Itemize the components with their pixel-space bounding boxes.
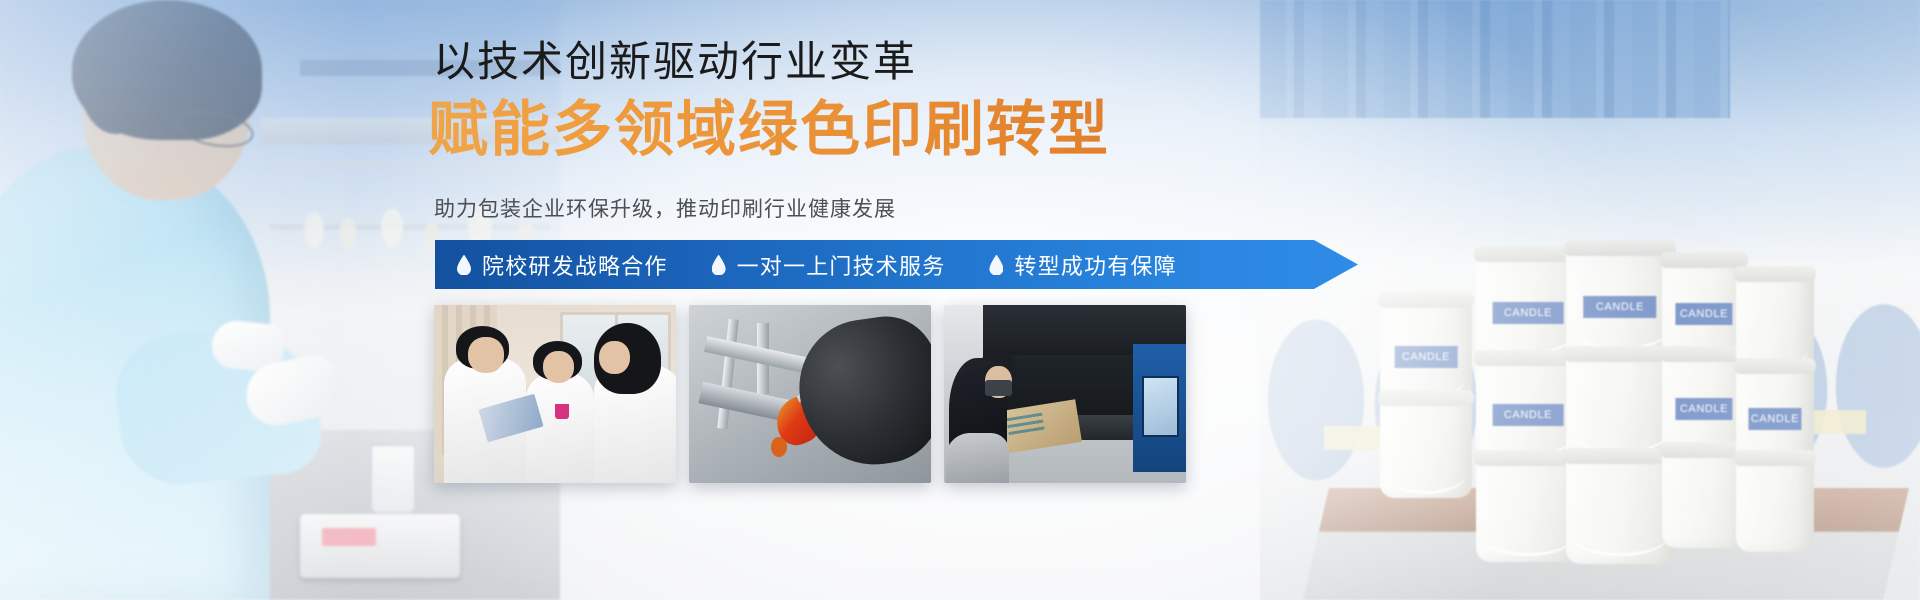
digital-printer-photo[interactable] [944, 305, 1186, 483]
photo-strip [434, 305, 1186, 483]
water-drop-icon [457, 255, 471, 275]
photo2-ink-drop [771, 437, 787, 457]
hero-subtitle: 助力包装企业环保升级，推动印刷行业健康发展 [434, 193, 896, 223]
ink-application-photo[interactable] [689, 305, 931, 483]
photo3-person-a-shirt [946, 433, 1009, 483]
water-drop-icon [712, 255, 726, 275]
photo1-sample-bottle [555, 383, 569, 419]
ribbon-item-label: 转型成功有保障 [1014, 249, 1176, 281]
ribbon-item-1[interactable]: 一对一上门技术服务 [712, 249, 946, 281]
photo1-person-a-face [468, 337, 504, 373]
photo3-person-a-mask [985, 380, 1012, 396]
hero-headline-accent: 赋能多领域绿色印刷转型 [428, 96, 1110, 163]
water-drop-icon [989, 255, 1003, 275]
hero-content: 以技术创新驱动行业变革 赋能多领域绿色印刷转型 助力包装企业环保升级，推动印刷行… [0, 0, 1920, 600]
feature-ribbon: 院校研发战略合作 一对一上门技术服务 转型成功有保障 [435, 240, 1358, 289]
ribbon-item-label: 一对一上门技术服务 [737, 249, 946, 281]
photo3-printer-screen [1142, 376, 1178, 437]
photo1-person-c-face [599, 341, 630, 375]
ribbon-item-0[interactable]: 院校研发战略合作 [457, 249, 668, 281]
hero-banner: CANDLE CANDLE CANDLE CANDLE CANDLE CANDL… [0, 0, 1920, 600]
ribbon-item-2[interactable]: 转型成功有保障 [989, 249, 1176, 281]
hero-headline-primary: 以技术创新驱动行业变革 [433, 38, 917, 86]
ribbon-item-label: 院校研发战略合作 [482, 249, 668, 281]
lab-team-photo[interactable] [434, 305, 676, 483]
photo1-person-b-face [543, 351, 574, 383]
